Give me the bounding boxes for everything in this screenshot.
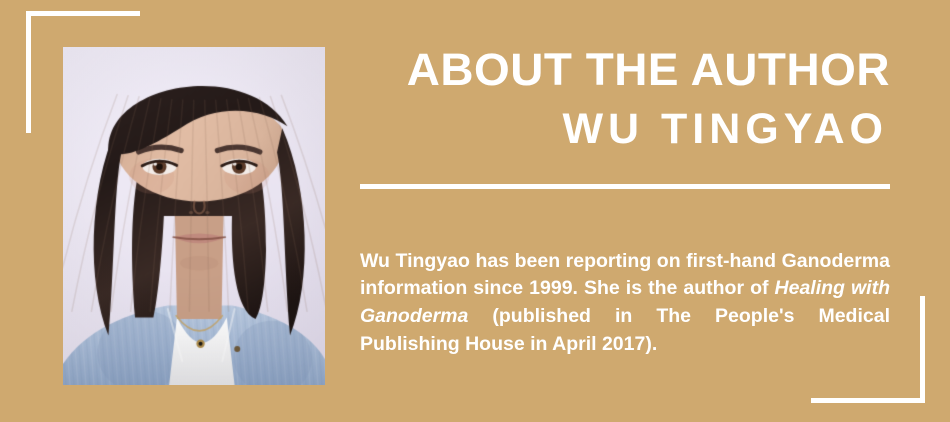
corner-bracket-bottom-right-vertical [920, 296, 925, 403]
about-the-author-banner: ABOUT THE AUTHOR WU TINGYAO Wu Tingyao h… [0, 0, 950, 422]
corner-bracket-top-left-vertical [26, 11, 31, 133]
author-portrait-canvas [63, 47, 325, 385]
title-divider-rule [360, 184, 890, 189]
title-line-about-the-author: ABOUT THE AUTHOR [349, 47, 890, 92]
author-bio-paragraph: Wu Tingyao has been reporting on first-h… [360, 248, 890, 359]
page-title: ABOUT THE AUTHOR WU TINGYAO [360, 47, 890, 151]
author-portrait-photo [63, 47, 325, 385]
text-column: ABOUT THE AUTHOR WU TINGYAO Wu Tingyao h… [360, 0, 890, 422]
corner-bracket-top-left-horizontal [26, 11, 140, 16]
title-line-author-name: WU TINGYAO [360, 108, 890, 151]
